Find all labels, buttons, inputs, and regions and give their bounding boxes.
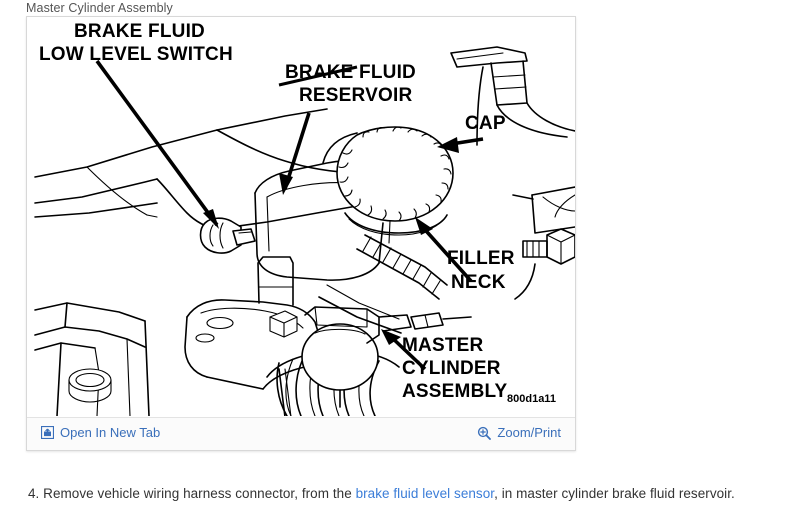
- open-in-new-tab-button[interactable]: Open In New Tab: [41, 425, 160, 440]
- zoom-print-label: Zoom/Print: [497, 425, 561, 440]
- figure-caption: Master Cylinder Assembly: [26, 1, 173, 15]
- diagram-image-area[interactable]: .ln { fill:none; stroke:#000; stroke-wid…: [27, 17, 575, 416]
- figure-code: 800d1a11: [507, 393, 556, 405]
- label-master-line3: ASSEMBLY: [402, 381, 508, 402]
- magnifier-plus-icon: [477, 426, 491, 440]
- brake-fluid-level-sensor-link[interactable]: brake fluid level sensor: [356, 486, 495, 501]
- label-master-line1: MASTER: [402, 335, 484, 356]
- label-reservoir-line2: RESERVOIR: [299, 85, 412, 106]
- step-text-suffix: , in master cylinder brake fluid reservo…: [494, 486, 735, 501]
- label-low-level-switch-line2: LOW LEVEL SWITCH: [39, 44, 233, 65]
- open-in-new-tab-label: Open In New Tab: [60, 425, 160, 440]
- label-master-line2: CYLINDER: [402, 358, 501, 379]
- open-in-new-tab-icon: [41, 426, 54, 439]
- label-cap: CAP: [465, 113, 506, 134]
- image-viewer-panel: .ln { fill:none; stroke:#000; stroke-wid…: [26, 16, 576, 451]
- label-reservoir-line1: BRAKE FLUID: [285, 62, 416, 83]
- reservoir-cap: [337, 127, 453, 221]
- label-filler-line2: NECK: [451, 272, 506, 293]
- step-text-prefix: 4. Remove vehicle wiring harness connect…: [28, 486, 356, 501]
- zoom-print-button[interactable]: Zoom/Print: [477, 425, 561, 440]
- image-viewer-toolbar: Open In New Tab Zoom/Print: [27, 417, 575, 450]
- small-bolt-detail: [270, 311, 297, 337]
- procedure-step-4: 4. Remove vehicle wiring harness connect…: [28, 486, 735, 501]
- label-low-level-switch-line1: BRAKE FLUID: [74, 21, 205, 42]
- master-cylinder-diagram: .ln { fill:none; stroke:#000; stroke-wid…: [27, 17, 575, 416]
- label-filler-line1: FILLER: [447, 248, 515, 269]
